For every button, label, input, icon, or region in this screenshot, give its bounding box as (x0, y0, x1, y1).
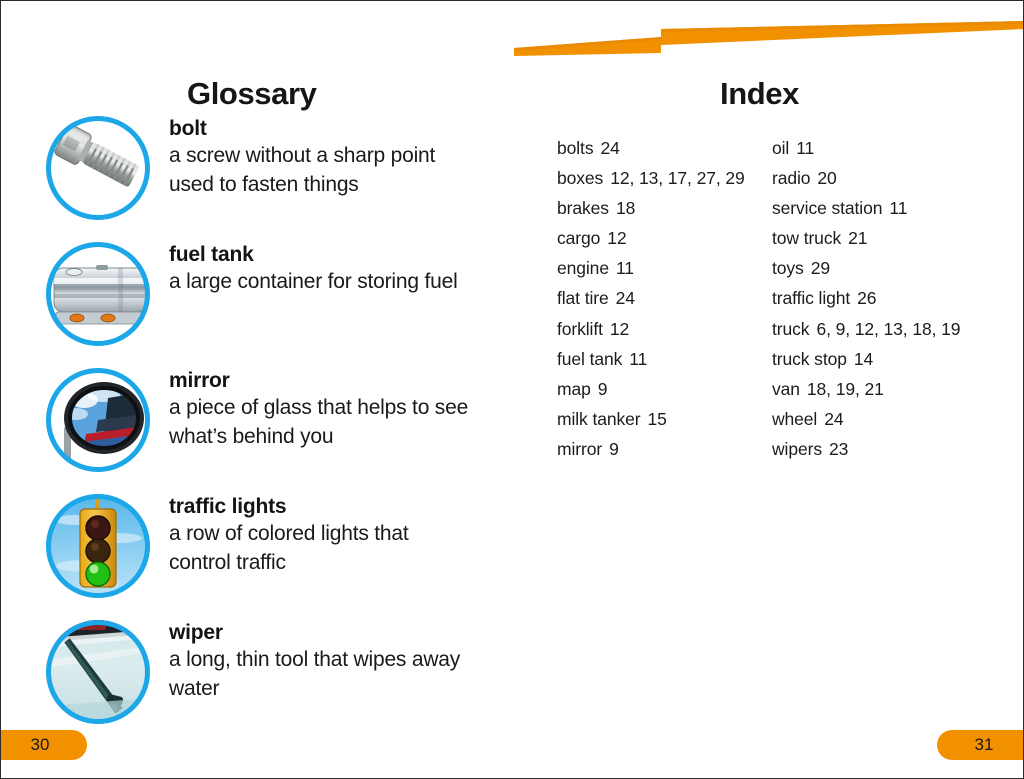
index-pages: 23 (829, 439, 848, 459)
index-term: van (772, 379, 800, 399)
page-number-right: 31 (937, 730, 1023, 760)
glossary-thumbnail (41, 615, 159, 733)
index-term: wheel (772, 409, 817, 429)
index-pages: 26 (857, 288, 876, 308)
index-entry: flat tire24 (557, 283, 772, 313)
index-pages: 11 (796, 138, 814, 158)
index-entry: boxes12, 13, 17, 27, 29 (557, 163, 772, 193)
index-entry: van18, 19, 21 (772, 374, 987, 404)
index-term: tow truck (772, 228, 841, 248)
index-entry: oil11 (772, 133, 987, 163)
index-page-title: Index (720, 76, 799, 112)
glossary-entry: wiper a long, thin tool that wipes away … (41, 615, 491, 733)
index-pages: 20 (817, 168, 836, 188)
glossary-definition: a piece of glass that helps to see what’… (169, 394, 469, 452)
index-pages: 18 (616, 198, 635, 218)
index-term: cargo (557, 228, 600, 248)
glossary-thumbnail (41, 363, 159, 481)
index-term: oil (772, 138, 789, 158)
index-pages: 11 (889, 198, 907, 218)
index-pages: 24 (616, 288, 635, 308)
index-pages: 21 (848, 228, 867, 248)
index-entry: engine11 (557, 253, 772, 283)
index-entry: forklift12 (557, 314, 772, 344)
index-pages: 11 (629, 349, 647, 369)
thumbnail-ring (46, 620, 150, 724)
index-entry: wheel24 (772, 404, 987, 434)
index-pages: 12 (607, 228, 626, 248)
index-term: toys (772, 258, 804, 278)
glossary-entry: bolt a screw without a sharp point used … (41, 111, 491, 229)
book-spread: Glossary (0, 0, 1024, 779)
index-entry: fuel tank11 (557, 344, 772, 374)
index-entry: bolts24 (557, 133, 772, 163)
glossary-entry-text: bolt a screw without a sharp point used … (159, 111, 469, 200)
index-pages: 24 (824, 409, 843, 429)
thumbnail-ring (46, 116, 150, 220)
thumbnail-ring (46, 242, 150, 346)
index-term: truck (772, 319, 809, 339)
index-term: boxes (557, 168, 603, 188)
index-term: map (557, 379, 591, 399)
index-pages: 18, 19, 21 (807, 379, 884, 399)
index-entry: tow truck21 (772, 223, 987, 253)
glossary-thumbnail (41, 237, 159, 355)
index-entry: toys29 (772, 253, 987, 283)
index-term: mirror (557, 439, 602, 459)
index-term: traffic light (772, 288, 850, 308)
index-pages: 14 (854, 349, 873, 369)
index-term: truck stop (772, 349, 847, 369)
page-number-left: 30 (1, 730, 87, 760)
index-pages: 24 (600, 138, 619, 158)
glossary-term: traffic lights (169, 495, 469, 520)
glossary-entry-text: traffic lights a row of colored lights t… (159, 489, 469, 578)
index-pages: 6, 9, 12, 13, 18, 19 (816, 319, 960, 339)
glossary-entry: mirror a piece of glass that helps to se… (41, 363, 491, 481)
index-term: engine (557, 258, 609, 278)
glossary-entry-text: wiper a long, thin tool that wipes away … (159, 615, 469, 704)
glossary-term: bolt (169, 117, 469, 142)
index-entry: traffic light26 (772, 283, 987, 313)
index-entry: map9 (557, 374, 772, 404)
glossary-definition: a screw without a sharp point used to fa… (169, 142, 469, 200)
index-term: brakes (557, 198, 609, 218)
index-term: milk tanker (557, 409, 641, 429)
index-entry: cargo12 (557, 223, 772, 253)
index-pages: 15 (648, 409, 667, 429)
orange-ribbon-decoration (1, 1, 1024, 61)
index-term: forklift (557, 319, 603, 339)
index-column-left: bolts24 boxes12, 13, 17, 27, 29 brakes18… (557, 133, 772, 464)
glossary-term: wiper (169, 621, 469, 646)
index-entry: brakes18 (557, 193, 772, 223)
glossary-entry-list: bolt a screw without a sharp point used … (41, 111, 491, 733)
thumbnail-ring (46, 368, 150, 472)
thumbnail-ring (46, 494, 150, 598)
glossary-thumbnail (41, 489, 159, 607)
index-term: wipers (772, 439, 822, 459)
glossary-entry: fuel tank a large container for storing … (41, 237, 491, 355)
index-entry: truck6, 9, 12, 13, 18, 19 (772, 314, 987, 344)
index-term: bolts (557, 138, 593, 158)
glossary-entry: traffic lights a row of colored lights t… (41, 489, 491, 607)
glossary-entry-text: fuel tank a large container for storing … (159, 237, 458, 297)
index-entry: radio20 (772, 163, 987, 193)
index-term: fuel tank (557, 349, 622, 369)
index-entry: service station11 (772, 193, 987, 223)
glossary-entry-text: mirror a piece of glass that helps to se… (159, 363, 469, 452)
index-entry: wipers23 (772, 434, 987, 464)
glossary-term: fuel tank (169, 243, 458, 268)
index-pages: 11 (616, 258, 634, 278)
glossary-page-title: Glossary (187, 76, 317, 112)
index-pages: 9 (598, 379, 608, 399)
glossary-definition: a row of colored lights that control tra… (169, 520, 469, 578)
index-entry: truck stop14 (772, 344, 987, 374)
index-term: radio (772, 168, 810, 188)
index-pages: 29 (811, 258, 830, 278)
index-pages: 9 (609, 439, 619, 459)
index-entry: milk tanker15 (557, 404, 772, 434)
orange-ribbon-shape (1, 1, 1024, 61)
index-column-right: oil11 radio20 service station11 tow truc… (772, 133, 987, 464)
glossary-thumbnail (41, 111, 159, 229)
index-pages: 12, 13, 17, 27, 29 (610, 168, 744, 188)
index-term: service station (772, 198, 882, 218)
glossary-definition: a large container for storing fuel (169, 268, 458, 297)
index-term: flat tire (557, 288, 609, 308)
index-pages: 12 (610, 319, 629, 339)
glossary-definition: a long, thin tool that wipes away water (169, 646, 469, 704)
index-entry: mirror9 (557, 434, 772, 464)
index-columns: bolts24 boxes12, 13, 17, 27, 29 brakes18… (557, 133, 987, 464)
glossary-term: mirror (169, 369, 469, 394)
